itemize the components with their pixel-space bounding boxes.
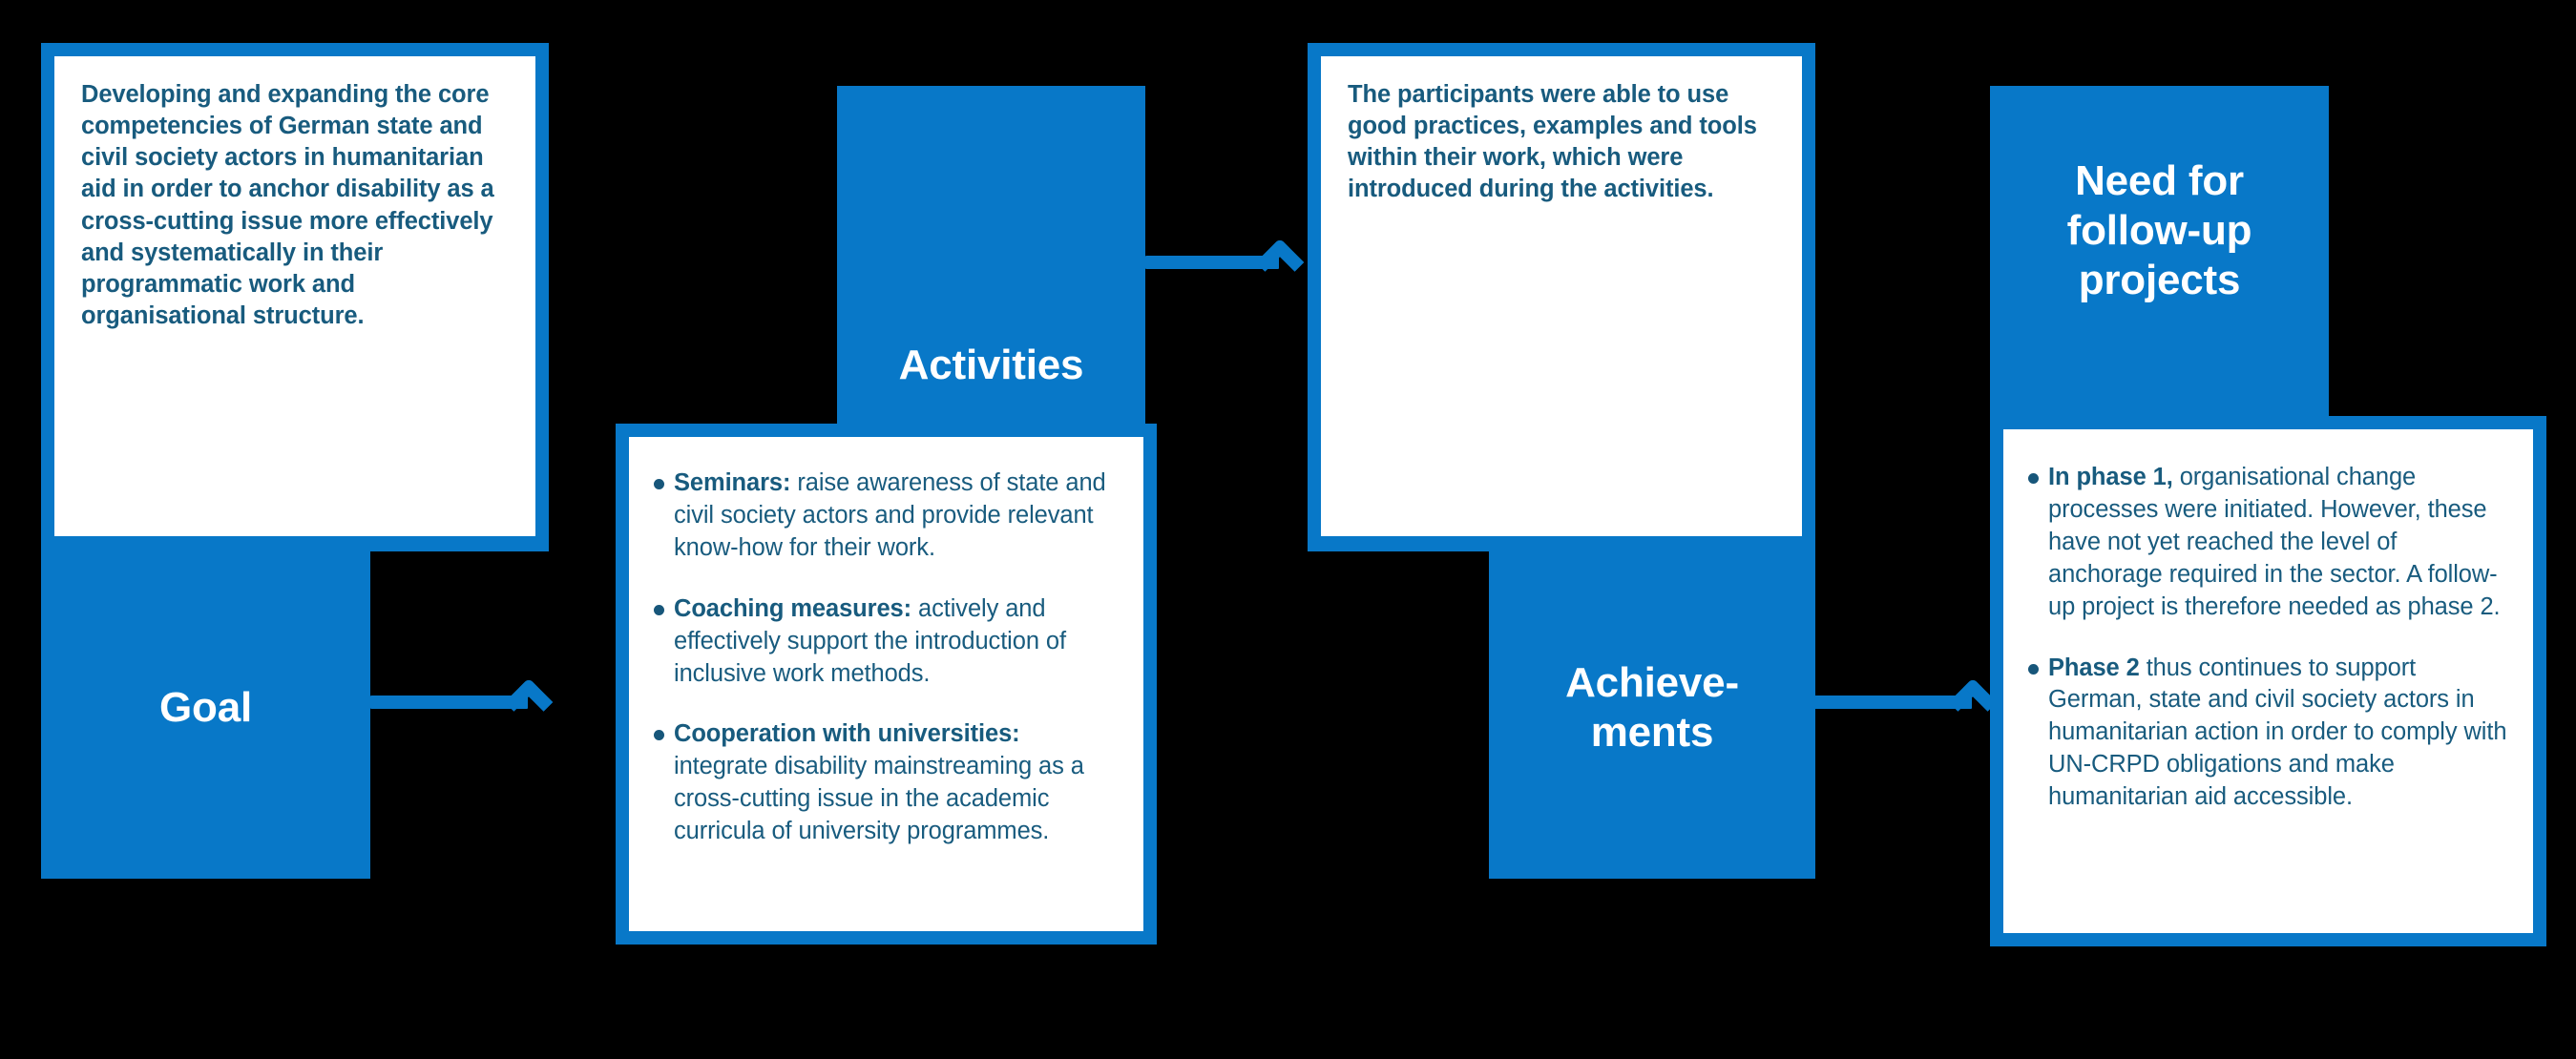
arrow-right-icon-activities-to-achievements <box>1145 256 1306 269</box>
stage-label-followup-projects-text: Need for follow-up projects <box>2067 156 2252 305</box>
stage-label-achievements[interactable]: Achieve- ments <box>1489 536 1815 879</box>
arrow-head <box>1256 239 1305 287</box>
stage-label-goal[interactable]: Goal <box>41 536 370 879</box>
goal-description-card: Developing and expanding the core compet… <box>54 56 535 536</box>
list-item-lead: Cooperation with universities: <box>674 720 1020 747</box>
goal-description-text: Developing and expanding the core compet… <box>81 79 509 332</box>
list-item: Seminars: raise awareness of state and c… <box>654 467 1119 565</box>
list-item: Coaching measures: actively and effectiv… <box>654 593 1119 691</box>
list-item-lead: Coaching measures: <box>674 595 911 622</box>
stage-label-achievements-text: Achieve- ments <box>1565 658 1739 758</box>
process-diagram: Developing and expanding the core compet… <box>0 0 2576 1059</box>
list-item: Cooperation with universities: integrate… <box>654 718 1119 848</box>
stage-label-activities[interactable]: Activities <box>837 86 1145 434</box>
arrow-head <box>505 678 554 727</box>
activities-bullet-list: Seminars: raise awareness of state and c… <box>654 467 1119 848</box>
list-item-lead: Phase 2 <box>2048 654 2140 681</box>
list-item-body: integrate disability mainstreaming as a … <box>674 753 1084 844</box>
stage-label-followup-projects[interactable]: Need for follow-up projects <box>1990 86 2329 422</box>
followup-bullet-list: In phase 1, organisational change proces… <box>2028 462 2508 814</box>
list-item-lead: In phase 1, <box>2048 464 2173 490</box>
activities-description-card: Seminars: raise awareness of state and c… <box>629 437 1143 931</box>
stage-label-activities-text: Activities <box>899 341 1084 390</box>
followup-description-card: In phase 1, organisational change proces… <box>2003 429 2533 933</box>
achievements-description-text: The participants were able to use good p… <box>1348 79 1775 206</box>
list-item: Phase 2 thus continues to support German… <box>2028 653 2508 815</box>
achievements-description-card: The participants were able to use good p… <box>1321 56 1802 536</box>
arrow-right-icon-goal-to-activities <box>370 696 555 709</box>
stage-label-goal-text: Goal <box>159 683 252 733</box>
list-item: In phase 1, organisational change proces… <box>2028 462 2508 624</box>
arrow-right-icon-achievements-to-followup <box>1814 696 1999 709</box>
list-item-lead: Seminars: <box>674 469 790 496</box>
